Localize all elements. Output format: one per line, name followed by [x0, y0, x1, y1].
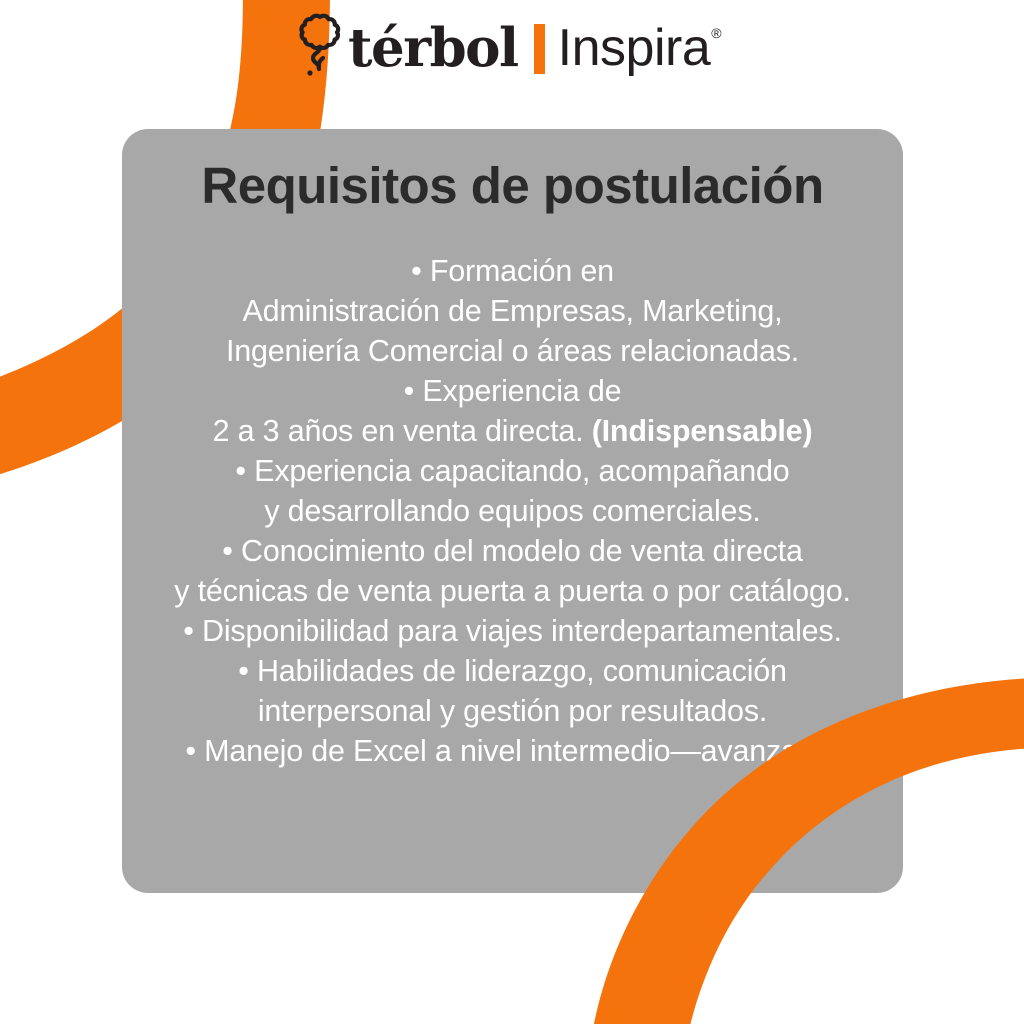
requirement-text: • Conocimiento del modelo de venta direc… [174, 534, 851, 608]
requirement-item: • Experiencia capacitando, acompañando y… [122, 451, 903, 531]
requirement-item: • Conocimiento del modelo de venta direc… [122, 531, 903, 611]
requirement-text: • Manejo de Excel a nivel intermedio—ava… [185, 734, 839, 768]
requirement-text: • Experiencia capacitando, acompañando y… [235, 454, 789, 528]
requirement-item: • Disponibilidad para viajes interdepart… [122, 611, 903, 651]
registered-mark-icon: ® [711, 26, 721, 40]
requirement-text: • Formación en Administración de Empresa… [226, 254, 799, 368]
tree-icon [296, 11, 344, 81]
brand-product: Inspira [558, 22, 711, 74]
brand-divider-bar [534, 24, 545, 74]
poster-canvas: térbol Inspira ® Requisitos de postulaci… [0, 0, 1024, 1024]
requirement-text: • Experiencia de 2 a 3 años en venta dir… [213, 374, 622, 448]
requirements-list: • Formación en Administración de Empresa… [122, 251, 903, 771]
requirement-item: • Manejo de Excel a nivel intermedio—ava… [122, 731, 903, 771]
requirement-item: • Experiencia de 2 a 3 años en venta dir… [122, 371, 903, 451]
requirements-card: Requisitos de postulación • Formación en… [122, 129, 903, 893]
page-title: Requisitos de postulación [122, 157, 903, 216]
requirement-text: • Disponibilidad para viajes interdepart… [183, 614, 842, 648]
requirement-item: • Habilidades de liderazgo, comunicación… [122, 651, 903, 731]
requirement-emphasis: (Indispensable) [592, 414, 813, 448]
requirement-text: • Habilidades de liderazgo, comunicación… [238, 654, 787, 728]
brand-name: térbol [348, 22, 518, 75]
requirement-item: • Formación en Administración de Empresa… [122, 251, 903, 371]
brand-logo: térbol Inspira ® [296, 8, 722, 84]
